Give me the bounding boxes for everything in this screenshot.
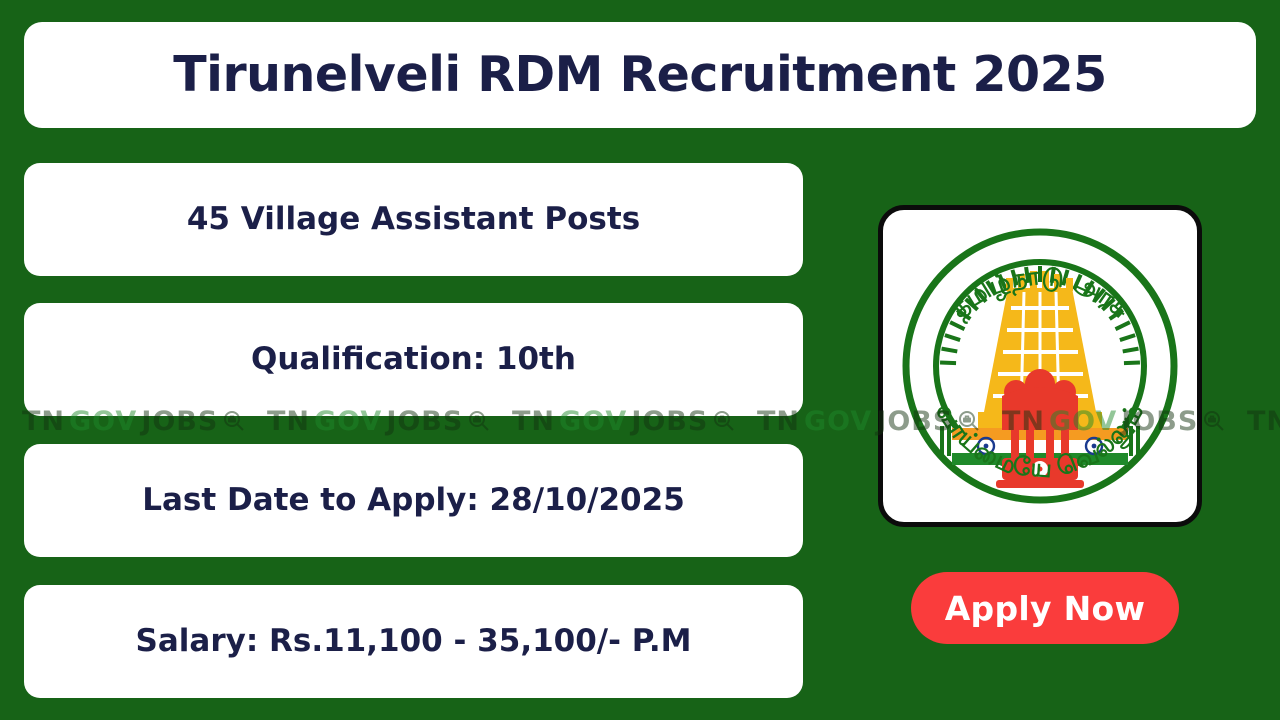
info-card-text: Salary: Rs.11,100 - 35,100/- P.M [136, 624, 692, 660]
apply-now-button[interactable]: Apply Now [911, 572, 1179, 644]
info-card-text: 45 Village Assistant Posts [187, 202, 640, 238]
watermark-tn: TN [1247, 408, 1280, 435]
info-card-salary: Salary: Rs.11,100 - 35,100/- P.M [24, 585, 803, 698]
magnifier-briefcase-icon [1202, 409, 1226, 433]
info-card-text: Last Date to Apply: 28/10/2025 [142, 483, 685, 519]
title-card: Tirunelveli RDM Recruitment 2025 [24, 22, 1256, 128]
page-title: Tirunelveli RDM Recruitment 2025 [173, 49, 1107, 100]
info-card-qualification: Qualification: 10th [24, 303, 803, 416]
info-card-posts: 45 Village Assistant Posts [24, 163, 803, 276]
tamil-nadu-government-emblem-icon: தமிழ்நாடு அரசு வாய்மையே வெல்லும் [890, 216, 1190, 516]
recruitment-poster: Tirunelveli RDM Recruitment 2025 45 Vill… [0, 0, 1280, 720]
info-card-last-date: Last Date to Apply: 28/10/2025 [24, 444, 803, 557]
emblem-logo-box: தமிழ்நாடு அரசு வாய்மையே வெல்லும் [878, 205, 1202, 527]
watermark-tile: TN GOV JOBS [1225, 408, 1280, 435]
watermark-gov: GOV [804, 408, 872, 435]
info-card-text: Qualification: 10th [251, 342, 576, 378]
